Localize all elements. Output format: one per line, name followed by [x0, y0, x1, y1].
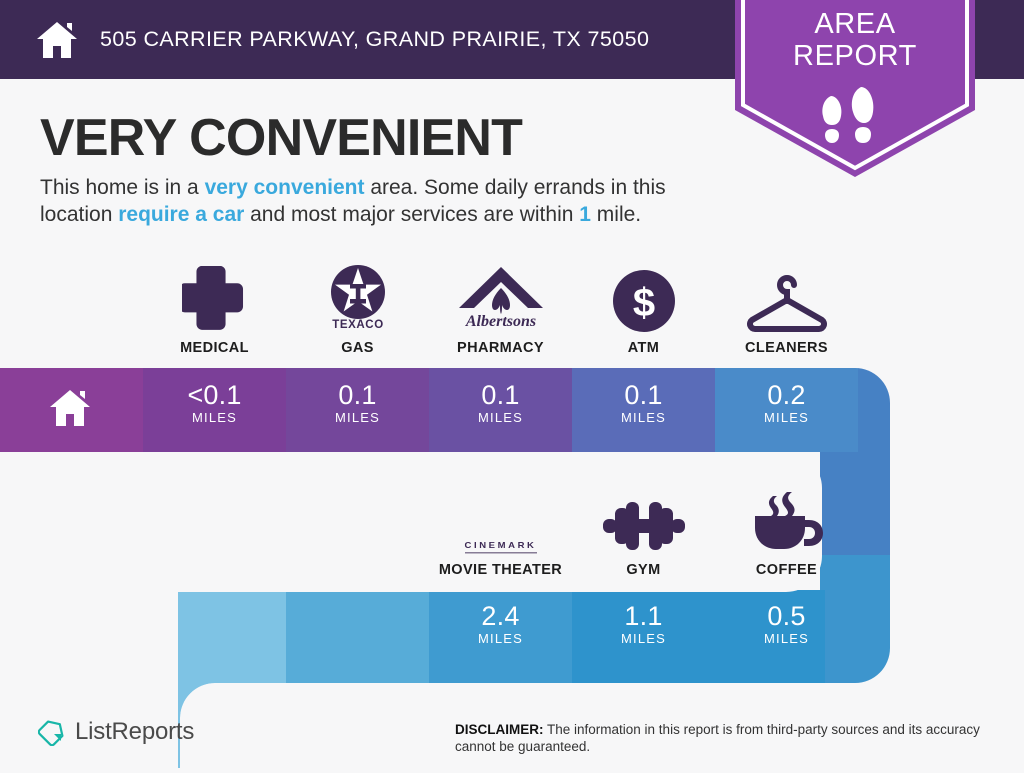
amenity-label: GYM	[572, 562, 715, 578]
amenity-movie-theater: CINEMARK MOVIE THEATER	[429, 484, 572, 578]
disclaimer: DISCLAIMER: The information in this repo…	[455, 721, 1015, 755]
amenity-gym: GYM	[572, 484, 715, 578]
cinemark-wordmark: CINEMARK	[465, 541, 537, 554]
bar-segment-turn-top	[858, 360, 1024, 452]
amenity-label: COFFEE	[715, 562, 858, 578]
bar-segment-medical	[143, 360, 286, 452]
coffee-cup-icon	[715, 484, 858, 554]
disclaimer-label: DISCLAIMER:	[455, 722, 544, 737]
cinemark-logo-icon: CINEMARK	[429, 484, 572, 554]
listreports-logo-icon	[38, 718, 66, 746]
badge-shield-shape	[735, 0, 975, 177]
bar-segment-home	[0, 360, 143, 452]
amenity-coffee: COFFEE	[715, 484, 858, 578]
listreports-logo-text: ListReports	[75, 718, 194, 746]
area-report-badge: AREA REPORT	[735, 0, 975, 177]
bar-segment-cleaners	[715, 360, 858, 452]
home-icon	[34, 17, 80, 63]
bar-segment-pharmacy	[429, 360, 572, 452]
amenity-label: MOVIE THEATER	[429, 562, 572, 578]
dumbbell-icon	[572, 484, 715, 554]
property-address: 505 CARRIER PARKWAY, GRAND PRAIRIE, TX 7…	[100, 27, 649, 52]
listreports-logo[interactable]: ListReports	[38, 718, 194, 746]
bar-segment-atm	[572, 360, 715, 452]
bar-segment-gas	[286, 360, 429, 452]
